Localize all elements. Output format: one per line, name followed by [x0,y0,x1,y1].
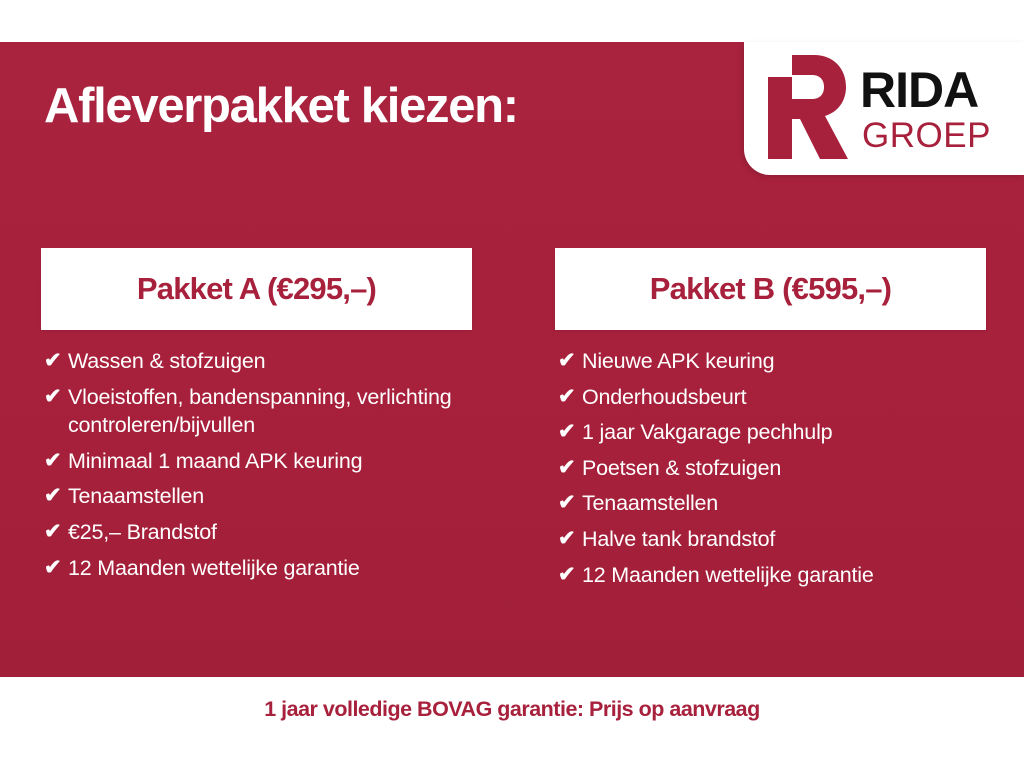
list-item: ✔ Tenaamstellen [41,482,472,511]
check-icon: ✔ [555,489,582,517]
logo-card: RIDA GROEP [744,42,1024,175]
check-icon: ✔ [41,447,68,475]
check-icon: ✔ [555,525,582,553]
feature-label: €25,– Brandstof [68,518,217,547]
list-item: ✔ €25,– Brandstof [41,518,472,547]
feature-label: Poetsen & stofzuigen [582,454,781,483]
package-title-pakket-b: Pakket B (€595,–) [650,271,891,307]
list-item: ✔ Halve tank brandstof [555,525,986,554]
feature-label: Tenaamstellen [68,482,204,511]
list-item: ✔ Minimaal 1 maand APK keuring [41,447,472,476]
list-item: ✔ Nieuwe APK keuring [555,347,986,376]
list-item: ✔ 12 Maanden wettelijke garantie [41,554,472,583]
check-icon: ✔ [41,482,68,510]
feature-label: Vloeistoffen, bandenspanning, verlichtin… [68,383,472,440]
package-header-pakket-b[interactable]: Pakket B (€595,–) [555,248,986,330]
package-title-pakket-a: Pakket A (€295,–) [137,271,376,307]
feature-label: Onderhoudsbeurt [582,383,746,412]
list-item: ✔ Poetsen & stofzuigen [555,454,986,483]
list-item: ✔ Tenaamstellen [555,489,986,518]
feature-list-pakket-b: ✔ Nieuwe APK keuring ✔ Onderhoudsbeurt ✔… [555,347,986,589]
list-item: ✔ Vloeistoffen, bandenspanning, verlicht… [41,383,472,440]
feature-label: Minimaal 1 maand APK keuring [68,447,362,476]
check-icon: ✔ [555,418,582,446]
check-icon: ✔ [41,518,68,546]
check-icon: ✔ [41,554,68,582]
feature-label: Tenaamstellen [582,489,718,518]
footer-banner: 1 jaar volledige BOVAG garantie: Prijs o… [0,677,1024,768]
feature-label: 1 jaar Vakgarage pechhulp [582,418,832,447]
feature-label: 12 Maanden wettelijke garantie [68,554,360,583]
package-column-pakket-b: Pakket B (€595,–) ✔ Nieuwe APK keuring ✔… [555,248,986,596]
feature-list-pakket-a: ✔ Wassen & stofzuigen ✔ Vloeistoffen, ba… [41,347,472,582]
page-title: Afleverpakket kiezen: [44,78,518,134]
footer-note: 1 jaar volledige BOVAG garantie: Prijs o… [264,697,760,722]
feature-label: 12 Maanden wettelijke garantie [582,561,874,590]
feature-label: Wassen & stofzuigen [68,347,265,376]
list-item: ✔ 12 Maanden wettelijke garantie [555,561,986,590]
logo-wordmark: RIDA GROEP [860,65,991,153]
rida-r-monogram-icon [758,51,850,163]
slide-canvas: RIDA GROEP Afleverpakket kiezen: Pakket … [0,0,1024,768]
list-item: ✔ Onderhoudsbeurt [555,383,986,412]
check-icon: ✔ [41,347,68,375]
list-item: ✔ 1 jaar Vakgarage pechhulp [555,418,986,447]
check-icon: ✔ [555,347,582,375]
package-column-pakket-a: Pakket A (€295,–) ✔ Wassen & stofzuigen … [41,248,472,589]
feature-label: Halve tank brandstof [582,525,775,554]
check-icon: ✔ [555,561,582,589]
logo-name-secondary: GROEP [862,118,991,153]
list-item: ✔ Wassen & stofzuigen [41,347,472,376]
check-icon: ✔ [555,454,582,482]
check-icon: ✔ [555,383,582,411]
feature-label: Nieuwe APK keuring [582,347,774,376]
packages-container: Pakket A (€295,–) ✔ Wassen & stofzuigen … [0,248,1024,648]
logo-name-primary: RIDA [860,65,991,115]
check-icon: ✔ [41,383,68,411]
package-header-pakket-a[interactable]: Pakket A (€295,–) [41,248,472,330]
